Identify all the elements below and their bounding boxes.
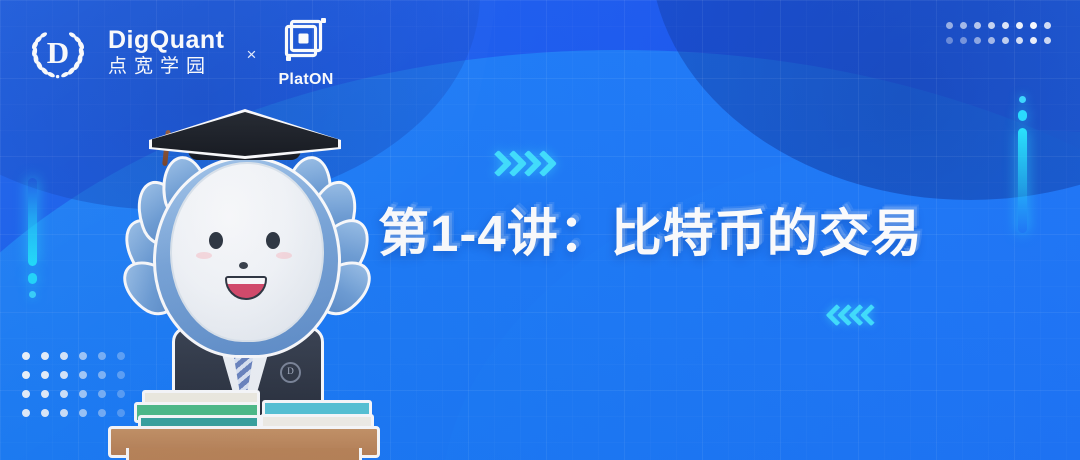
mascot-nose bbox=[239, 262, 248, 269]
brand-names: DigQuant 点宽学园 bbox=[108, 27, 225, 77]
brand-header: D DigQuant 点宽学园 × PlatON bbox=[26, 16, 334, 89]
dot-grid-top-right bbox=[946, 22, 1058, 52]
platon-nested-square-icon bbox=[281, 16, 331, 66]
partner-name: PlatON bbox=[278, 71, 333, 89]
glow-bar-left bbox=[28, 178, 37, 298]
mascot-blush-left bbox=[196, 252, 212, 259]
graduation-cap-board bbox=[152, 112, 338, 156]
glow-bar-right-dot bbox=[1019, 96, 1026, 103]
chevron-right-icon bbox=[489, 148, 502, 174]
chevron-right-group bbox=[489, 148, 547, 174]
glow-bar-left-stem bbox=[28, 178, 37, 266]
mascot-eye-left bbox=[209, 232, 223, 249]
podium-body bbox=[126, 448, 362, 460]
glow-bar-left-dot bbox=[29, 291, 36, 298]
chevron-right-icon bbox=[519, 148, 532, 174]
mascot-blush-right bbox=[276, 252, 292, 259]
glow-bar-left-pill bbox=[28, 273, 37, 284]
mascot-teeth bbox=[227, 278, 265, 284]
chevron-left-icon bbox=[863, 302, 874, 323]
glow-bar-right-stem bbox=[1018, 128, 1027, 233]
course-banner: D DigQuant 点宽学园 × PlatON bbox=[0, 0, 1080, 460]
laurel-wreath-icon: D bbox=[26, 21, 90, 85]
graduate-mascot: D bbox=[108, 104, 378, 460]
brand-separator: × bbox=[247, 41, 257, 65]
chevron-right-icon bbox=[504, 148, 517, 174]
chevron-right-icon bbox=[534, 148, 547, 174]
mascot-face bbox=[170, 162, 324, 342]
page-title: 第1-4讲：比特币的交易 bbox=[378, 192, 923, 266]
mascot-lapel-badge: D bbox=[280, 362, 301, 383]
glow-bar-right-pill bbox=[1018, 110, 1027, 121]
chevron-left-group bbox=[829, 302, 874, 323]
brand-name-en: DigQuant bbox=[108, 27, 225, 53]
glow-bar-right bbox=[1018, 96, 1027, 233]
mascot-eye-right bbox=[266, 232, 280, 249]
partner-logo: PlatON bbox=[278, 16, 333, 89]
brand-name-cn: 点宽学园 bbox=[108, 56, 225, 78]
emblem-letter: D bbox=[26, 36, 90, 67]
